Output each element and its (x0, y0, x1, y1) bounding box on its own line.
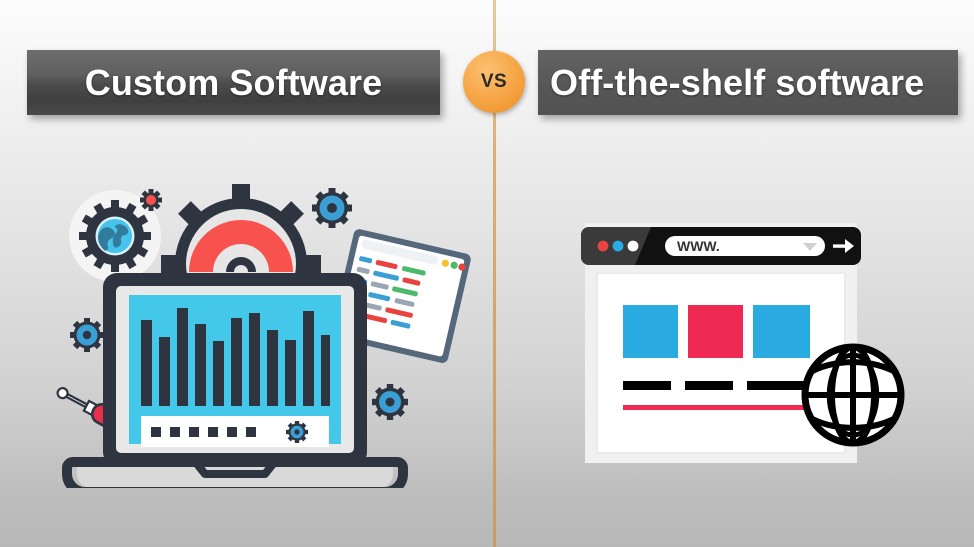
content-bar-3 (747, 381, 809, 390)
browser-content-area (597, 273, 845, 453)
traffic-light-minimize-icon[interactable] (613, 241, 624, 252)
content-block-3 (753, 305, 810, 358)
blue-gear-left-icon (70, 318, 104, 352)
laptop-toolbar-gear-icon (286, 421, 308, 443)
right-banner: Off-the-shelf software (538, 50, 958, 115)
vs-badge: VS (463, 51, 525, 113)
small-red-gear-icon (140, 189, 162, 211)
address-bar-text: WWW. (677, 238, 720, 254)
traffic-light-close-icon[interactable] (598, 241, 609, 252)
globe-icon (805, 347, 901, 443)
custom-software-illustration (55, 168, 475, 488)
vs-badge-label: VS (481, 71, 507, 93)
slide-canvas: Custom Software VS Off-the-shelf softwar… (0, 0, 974, 547)
content-bar-2 (685, 381, 733, 390)
off-the-shelf-browser-illustration: WWW. (575, 215, 915, 470)
right-banner-label: Off-the-shelf software (550, 62, 924, 104)
left-banner: Custom Software (27, 50, 440, 115)
content-bar-1 (623, 381, 671, 390)
content-block-2 (688, 305, 743, 358)
traffic-light-maximize-icon[interactable] (628, 241, 639, 252)
content-block-1 (623, 305, 678, 358)
blue-gear-top-icon (312, 188, 352, 228)
laptop-icon (67, 273, 403, 488)
left-banner-label: Custom Software (85, 62, 383, 104)
blue-gear-bottom-icon (372, 384, 408, 420)
content-underline (623, 405, 809, 410)
